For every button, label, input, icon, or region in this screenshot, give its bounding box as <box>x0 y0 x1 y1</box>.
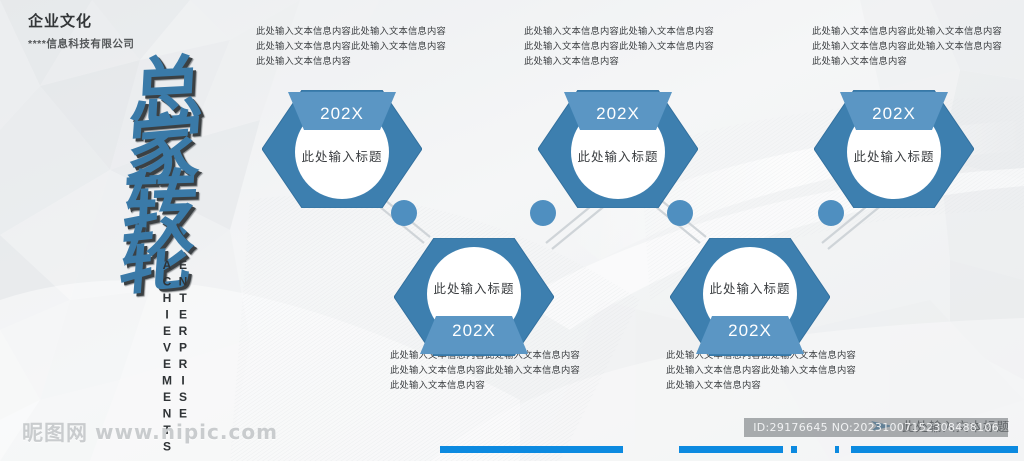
hexagon-year-3: 202X <box>538 104 698 124</box>
milestone-node-5[interactable]: 202X 此处输入标题 <box>814 90 974 208</box>
site-watermark: 昵图网 www.nipic.com <box>22 417 278 447</box>
hexagon-year-2: 202X <box>394 321 554 341</box>
milestone-node-3[interactable]: 202X 此处输入标题 <box>538 90 698 208</box>
watermark-site-name: 昵图网 <box>22 417 88 447</box>
hexagon-year-4: 202X <box>670 321 830 341</box>
milestone-node-4[interactable]: 202X 此处输入标题 <box>670 238 830 356</box>
hexagon-year-1: 202X <box>262 104 422 124</box>
bar-gap <box>839 446 851 453</box>
hexagon-year-5: 202X <box>814 104 974 124</box>
page-title: 企业文化 <box>28 10 134 31</box>
hexagon-title-1: 此处输入标题 <box>262 146 422 165</box>
company-subtitle: ****信息科技有限公司 <box>28 36 134 51</box>
milestone-node-1[interactable]: 202X 此处输入标题 <box>262 90 422 208</box>
poster-canvas: 企业文化 ****信息科技有限公司 总 家 转 轮 ENTERPRISE ACH… <box>0 0 1024 461</box>
watermark-id-badge: ID:29176645 NO:20231007152308488106 <box>744 418 1008 437</box>
bar-gap <box>623 446 679 453</box>
bottom-progress-bar <box>440 446 1018 453</box>
hexagon-badge-5[interactable]: 202X 此处输入标题 <box>814 90 974 208</box>
hexagon-badge-1[interactable]: 202X 此处输入标题 <box>262 90 422 208</box>
bar-segment <box>679 446 783 453</box>
bar-segment <box>851 446 1018 453</box>
bar-segment <box>440 446 623 453</box>
watermark-site-url: www.nipic.com <box>95 420 278 444</box>
hexagon-title-3: 此处输入标题 <box>538 146 698 165</box>
hexagon-title-5: 此处输入标题 <box>814 146 974 165</box>
hexagon-badge-3[interactable]: 202X 此处输入标题 <box>538 90 698 208</box>
hexagon-badge-2[interactable]: 202X 此处输入标题 <box>394 238 554 356</box>
header-block: 企业文化 ****信息科技有限公司 <box>28 10 134 51</box>
hexagon-title-2: 此处输入标题 <box>394 278 554 297</box>
hexagon-badge-4[interactable]: 202X 此处输入标题 <box>670 238 830 356</box>
milestone-node-2[interactable]: 202X 此处输入标题 <box>394 238 554 356</box>
hexagon-title-4: 此处输入标题 <box>670 278 830 297</box>
bar-gap <box>797 446 835 453</box>
bar-gap <box>783 446 791 453</box>
